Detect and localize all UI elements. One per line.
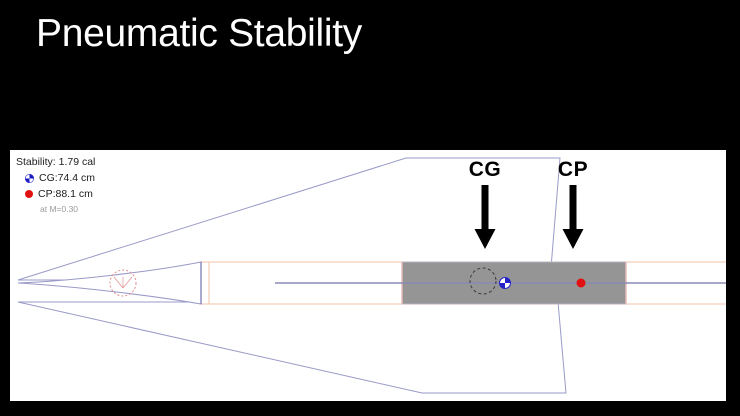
stability-value: Stability: 1.79 cal xyxy=(14,154,164,170)
cg-callout: CG xyxy=(455,158,515,250)
cg-readout-row: CG:74.4 cm xyxy=(14,170,164,186)
lower-fin-visible xyxy=(18,302,566,393)
stability-info-panel: Stability: 1.79 cal CG:74.4 cm CP:88.1 c… xyxy=(14,154,164,217)
cp-readout-row: CP:88.1 cm xyxy=(14,186,164,202)
cp-callout: CP xyxy=(543,158,603,250)
down-arrow-icon xyxy=(562,185,584,250)
cg-marker xyxy=(500,278,511,289)
mach-note: at M=0.30 xyxy=(14,202,164,217)
cp-callout-label: CP xyxy=(543,158,603,182)
page-title: Pneumatic Stability xyxy=(36,12,362,56)
cp-marker xyxy=(577,279,586,288)
cg-readout-label: CG:74.4 cm xyxy=(39,170,95,186)
cp-readout-label: CP:88.1 cm xyxy=(38,186,93,202)
cg-callout-label: CG xyxy=(455,158,515,182)
down-arrow-icon xyxy=(474,185,496,250)
cp-marker-icon xyxy=(25,190,33,198)
cg-marker-icon xyxy=(25,174,34,183)
slide-root: Pneumatic Stability xyxy=(0,0,740,416)
rocket-design-canvas[interactable]: Stability: 1.79 cal CG:74.4 cm CP:88.1 c… xyxy=(10,150,726,401)
